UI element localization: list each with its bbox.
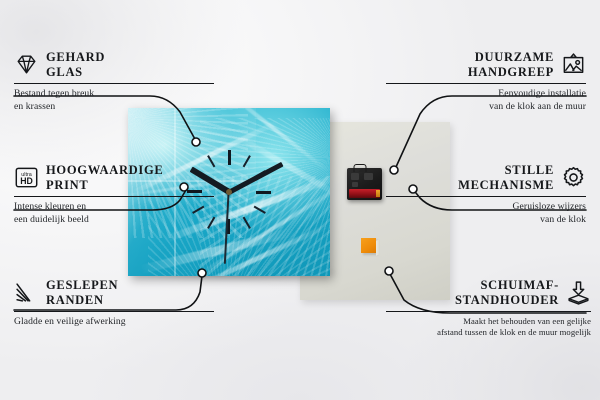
feature-desc-line2: een duidelijk beeld <box>14 214 214 227</box>
feature-header: STILLE MECHANISME <box>386 163 586 193</box>
feature-rule <box>14 83 214 85</box>
feature-callout-stille-mechanisme: STILLE MECHANISME Geruisloze wijzers van… <box>386 163 586 226</box>
diamond-icon <box>14 52 39 77</box>
feature-callout-schuimafstandhouder: SCHUIMAF- STANDHOUDER Maakt het behouden… <box>386 278 591 339</box>
feature-title-line1: HOOGWAARDIGE <box>46 163 163 178</box>
feature-desc-line1: Eenvoudige installatie <box>386 88 586 101</box>
feature-description: Eenvoudige installatie van de klok aan d… <box>386 88 586 113</box>
picture-frame-icon <box>561 52 586 77</box>
feature-desc-line1: Gladde en veilige afwerking <box>14 316 214 329</box>
feature-header: GEHARD GLAS <box>14 50 214 80</box>
feature-desc-line1: Maakt het behouden van een gelijke <box>386 316 591 327</box>
mechanism-detail <box>352 182 358 187</box>
feature-callout-geslepen-randen: GESLEPEN RANDEN Gladde en veilige afwerk… <box>14 278 214 329</box>
clock-hub <box>226 189 232 195</box>
feature-description: Gladde en veilige afwerking <box>14 316 214 329</box>
feature-desc-line2: afstand tussen de klok en de muur mogeli… <box>386 327 591 338</box>
ultra-hd-icon-bottom-text: HD <box>20 176 33 186</box>
feature-title: GEHARD GLAS <box>46 50 105 80</box>
feature-description: Geruisloze wijzers van de klok <box>386 201 586 226</box>
feature-title-line2: GLAS <box>46 65 105 80</box>
feature-desc-line1: Geruisloze wijzers <box>386 201 586 214</box>
feature-header: SCHUIMAF- STANDHOUDER <box>386 278 591 308</box>
feature-title-line2: PRINT <box>46 178 163 193</box>
feature-rule <box>14 311 214 313</box>
feature-title: STILLE MECHANISME <box>458 163 554 193</box>
feature-header: DUURZAME HANDGREEP <box>386 50 586 80</box>
orange-foam-spacer <box>361 238 376 253</box>
feature-desc-line2: van de klok <box>386 214 586 227</box>
feature-title: SCHUIMAF- STANDHOUDER <box>455 278 559 308</box>
infographic-canvas: GEHARD GLAS Bestand tegen breuk en krass… <box>0 0 600 400</box>
feature-title-line1: SCHUIMAF- <box>455 278 559 293</box>
feature-desc-line1: Intense kleuren en <box>14 201 214 214</box>
feature-title-line1: DUURZAME <box>468 50 554 65</box>
feature-desc-line1: Bestand tegen breuk <box>14 88 214 101</box>
mechanism-detail <box>351 173 359 180</box>
feature-title: HOOGWAARDIGE PRINT <box>46 163 163 193</box>
feature-rule <box>386 311 591 313</box>
feature-description: Bestand tegen breuk en krassen <box>14 88 214 113</box>
feature-desc-line2: van de klok aan de muur <box>386 101 586 114</box>
ultra-hd-icon: ultra HD <box>14 165 39 190</box>
feature-title-line2: MECHANISME <box>458 178 554 193</box>
feature-title-line1: STILLE <box>458 163 554 178</box>
feature-rule <box>14 196 214 198</box>
feature-callout-gehard-glas: GEHARD GLAS Bestand tegen breuk en krass… <box>14 50 214 113</box>
feature-description: Maakt het behouden van een gelijke afsta… <box>386 316 591 339</box>
feature-title: DUURZAME HANDGREEP <box>468 50 554 80</box>
feature-rule <box>386 83 586 85</box>
feature-title-line2: RANDEN <box>46 293 118 308</box>
mechanism-hanger <box>354 164 367 172</box>
feature-header: ultra HD HOOGWAARDIGE PRINT <box>14 163 214 193</box>
clock-mechanism <box>347 168 382 200</box>
feature-desc-line2: en krassen <box>14 101 214 114</box>
feature-callout-duurzame-handgreep: DUURZAME HANDGREEP Eenvoudige installati… <box>386 50 586 113</box>
feature-header: GESLEPEN RANDEN <box>14 278 214 308</box>
feature-description: Intense kleuren en een duidelijk beeld <box>14 201 214 226</box>
aa-battery <box>349 189 380 198</box>
spacer-press-icon <box>566 280 591 305</box>
feature-title: GESLEPEN RANDEN <box>46 278 118 308</box>
feature-callout-hoogwaardige-print: ultra HD HOOGWAARDIGE PRINT Intense kleu… <box>14 163 214 226</box>
feature-title-line1: GESLEPEN <box>46 278 118 293</box>
feature-rule <box>386 196 586 198</box>
beveled-edges-icon <box>14 280 39 305</box>
feature-title-line1: GEHARD <box>46 50 105 65</box>
feature-title-line2: STANDHOUDER <box>455 293 559 308</box>
mechanism-detail <box>364 173 373 180</box>
gear-icon <box>561 165 586 190</box>
feature-title-line2: HANDGREEP <box>468 65 554 80</box>
